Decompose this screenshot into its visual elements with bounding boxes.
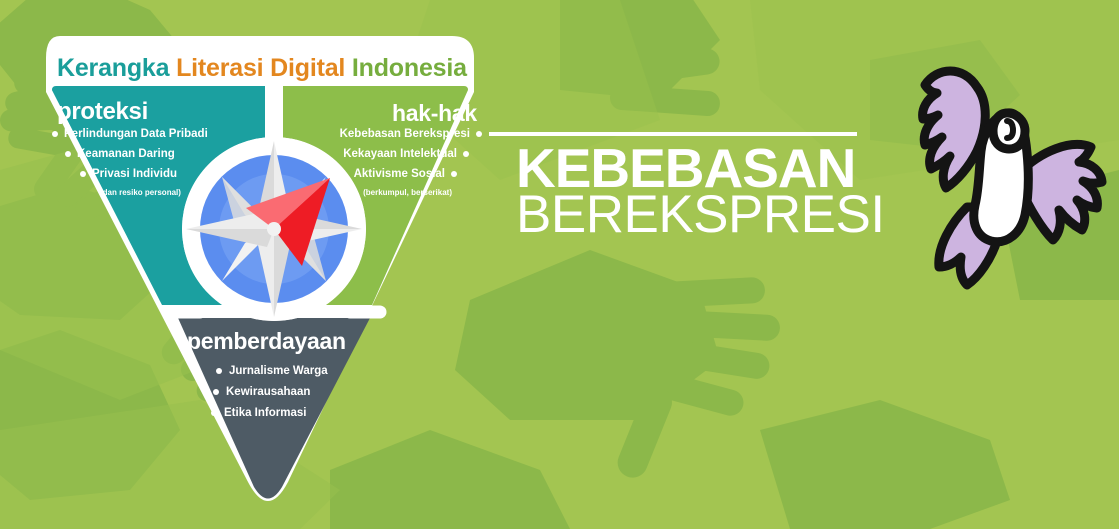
bullet-dot-icon <box>451 171 457 177</box>
list-proteksi: Perlindungan Data Pribadi Keamanan Darin… <box>52 128 208 197</box>
connector-line <box>489 132 857 136</box>
list-item: Keamanan Daring <box>65 148 208 160</box>
list-item-label: Keamanan Daring <box>77 148 175 160</box>
headline-kebebasan-berekspresi: KEBEBASAN BEREKSPRESI <box>516 142 885 241</box>
list-item-sublabel: (dan resiko personal) <box>100 188 208 197</box>
bullet-dot-icon <box>52 131 58 137</box>
list-item-label: Perlindungan Data Pribadi <box>64 128 208 140</box>
dove-icon <box>895 55 1110 290</box>
bullet-dot-icon <box>476 131 482 137</box>
list-hak-hak: Kebebasan Berekspresi Kekayaan Intelektu… <box>330 128 482 197</box>
list-item-label: Jurnalisme Warga <box>229 365 328 377</box>
bullet-dot-icon <box>213 389 219 395</box>
list-item-label: Etika Informasi <box>224 407 306 419</box>
bullet-dot-icon <box>216 368 222 374</box>
panel-heading-proteksi: proteksi <box>57 98 148 126</box>
infographic-banner: Kerangka Literasi Digital Indonesia prot… <box>0 0 1119 529</box>
list-item-label: Aktivisme Sosial <box>354 168 445 180</box>
list-item: Kebebasan Berekspresi <box>330 128 482 140</box>
bullet-dot-icon <box>211 410 217 416</box>
headline-line-2: BEREKSPRESI <box>516 190 885 240</box>
list-item: Jurnalisme Warga <box>216 365 328 377</box>
bullet-dot-icon <box>65 151 71 157</box>
list-item: Kewirausahaan <box>213 386 328 398</box>
list-item: Kekayaan Intelektual <box>330 148 469 160</box>
page-title: Kerangka Literasi Digital Indonesia <box>57 54 467 83</box>
title-word-literasi-digital: Literasi Digital <box>176 54 345 82</box>
list-item: Etika Informasi <box>211 407 328 419</box>
panel-heading-pemberdayaan: pemberdayaan <box>187 328 346 355</box>
panel-heading-hak-hak: hak-hak <box>392 100 477 127</box>
list-pemberdayaan: Jurnalisme Warga Kewirausahaan Etika Inf… <box>205 365 328 428</box>
list-item: Privasi Individu <box>80 168 208 180</box>
list-item-label: Kebebasan Berekspresi <box>340 128 470 140</box>
list-item-label: Privasi Individu <box>92 168 177 180</box>
list-item: Aktivisme Sosial <box>330 168 457 180</box>
list-item: Perlindungan Data Pribadi <box>52 128 208 140</box>
title-word-indonesia: Indonesia <box>352 54 467 82</box>
list-item-label: Kekayaan Intelektual <box>343 148 457 160</box>
bullet-dot-icon <box>463 151 469 157</box>
title-word-kerangka: Kerangka <box>57 54 169 82</box>
list-item-label: Kewirausahaan <box>226 386 310 398</box>
list-item-sublabel: (berkumpul, berserikat) <box>330 188 452 197</box>
bullet-dot-icon <box>80 171 86 177</box>
